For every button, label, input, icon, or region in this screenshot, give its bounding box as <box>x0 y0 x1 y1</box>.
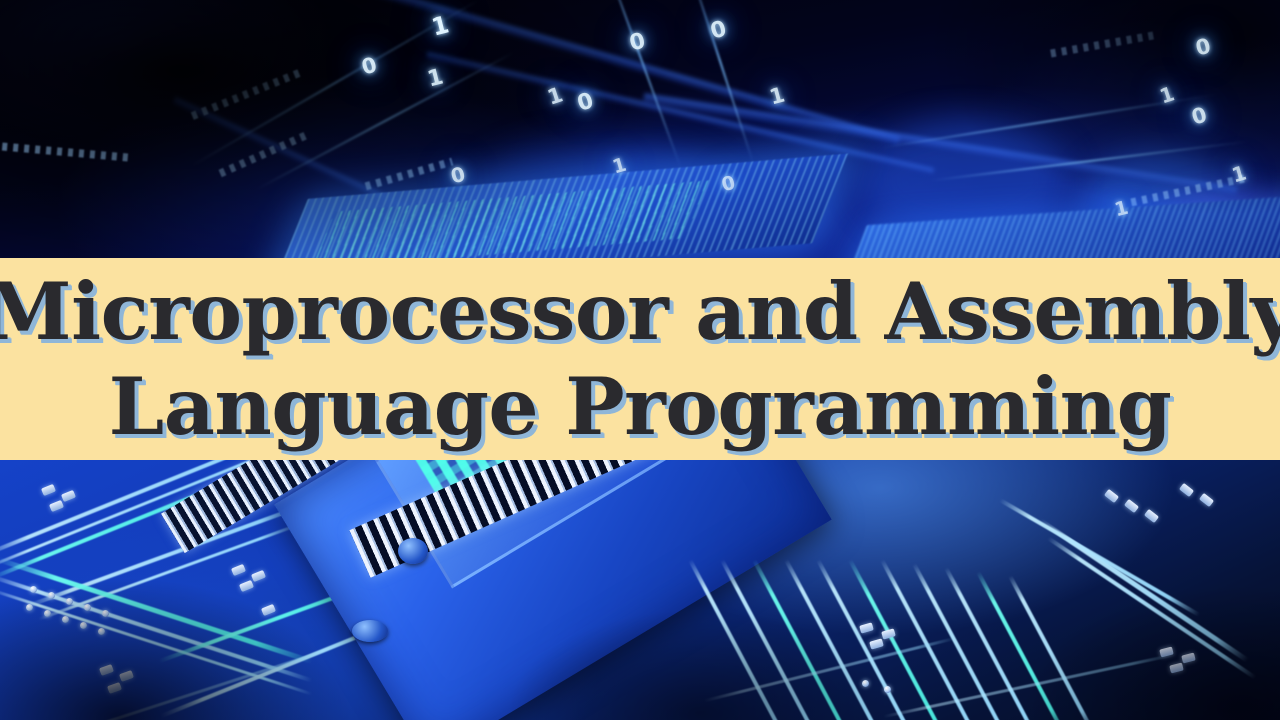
slide: 0111000101001011 <box>0 0 1280 720</box>
page-title-line-2: Language Programming <box>109 359 1172 454</box>
page-title-line-1: Microprocessor and Assembly <box>0 264 1280 359</box>
top-circuit-photo: 0111000101001011 <box>0 0 1280 262</box>
title-banner: Microprocessor and Assembly Language Pro… <box>0 258 1280 460</box>
bottom-circuit-photo <box>0 458 1280 720</box>
vignette <box>0 458 1280 720</box>
